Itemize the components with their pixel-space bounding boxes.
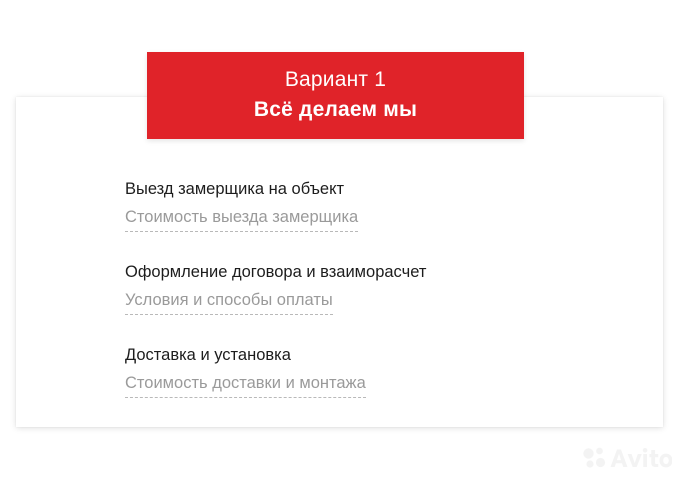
banner-variant-label: Вариант 1 [285,67,386,93]
list-item: Выезд замерщика на объект Стоимость выез… [125,178,605,232]
step-title: Доставка и установка [125,344,605,368]
screenshot-stage: Выезд замерщика на объект Стоимость выез… [0,0,680,484]
avito-watermark [580,443,672,473]
step-title: Оформление договора и взаиморасчет [125,261,605,285]
step-subtitle-link[interactable]: Стоимость доставки и монтажа [125,372,366,398]
step-subtitle-link[interactable]: Условия и способы оплаты [125,289,333,315]
service-steps-list: Выезд замерщика на объект Стоимость выез… [125,178,605,398]
list-item: Доставка и установка Стоимость доставки … [125,344,605,398]
content-card: Выезд замерщика на объект Стоимость выез… [16,97,663,427]
banner-headline: Всё делаем мы [254,96,417,123]
step-subtitle-link[interactable]: Стоимость выезда замерщика [125,206,358,232]
step-title: Выезд замерщика на объект [125,178,605,202]
avito-logo-icon [580,443,672,473]
variant-banner: Вариант 1 Всё делаем мы [147,52,524,139]
list-item: Оформление договора и взаиморасчет Услов… [125,261,605,315]
